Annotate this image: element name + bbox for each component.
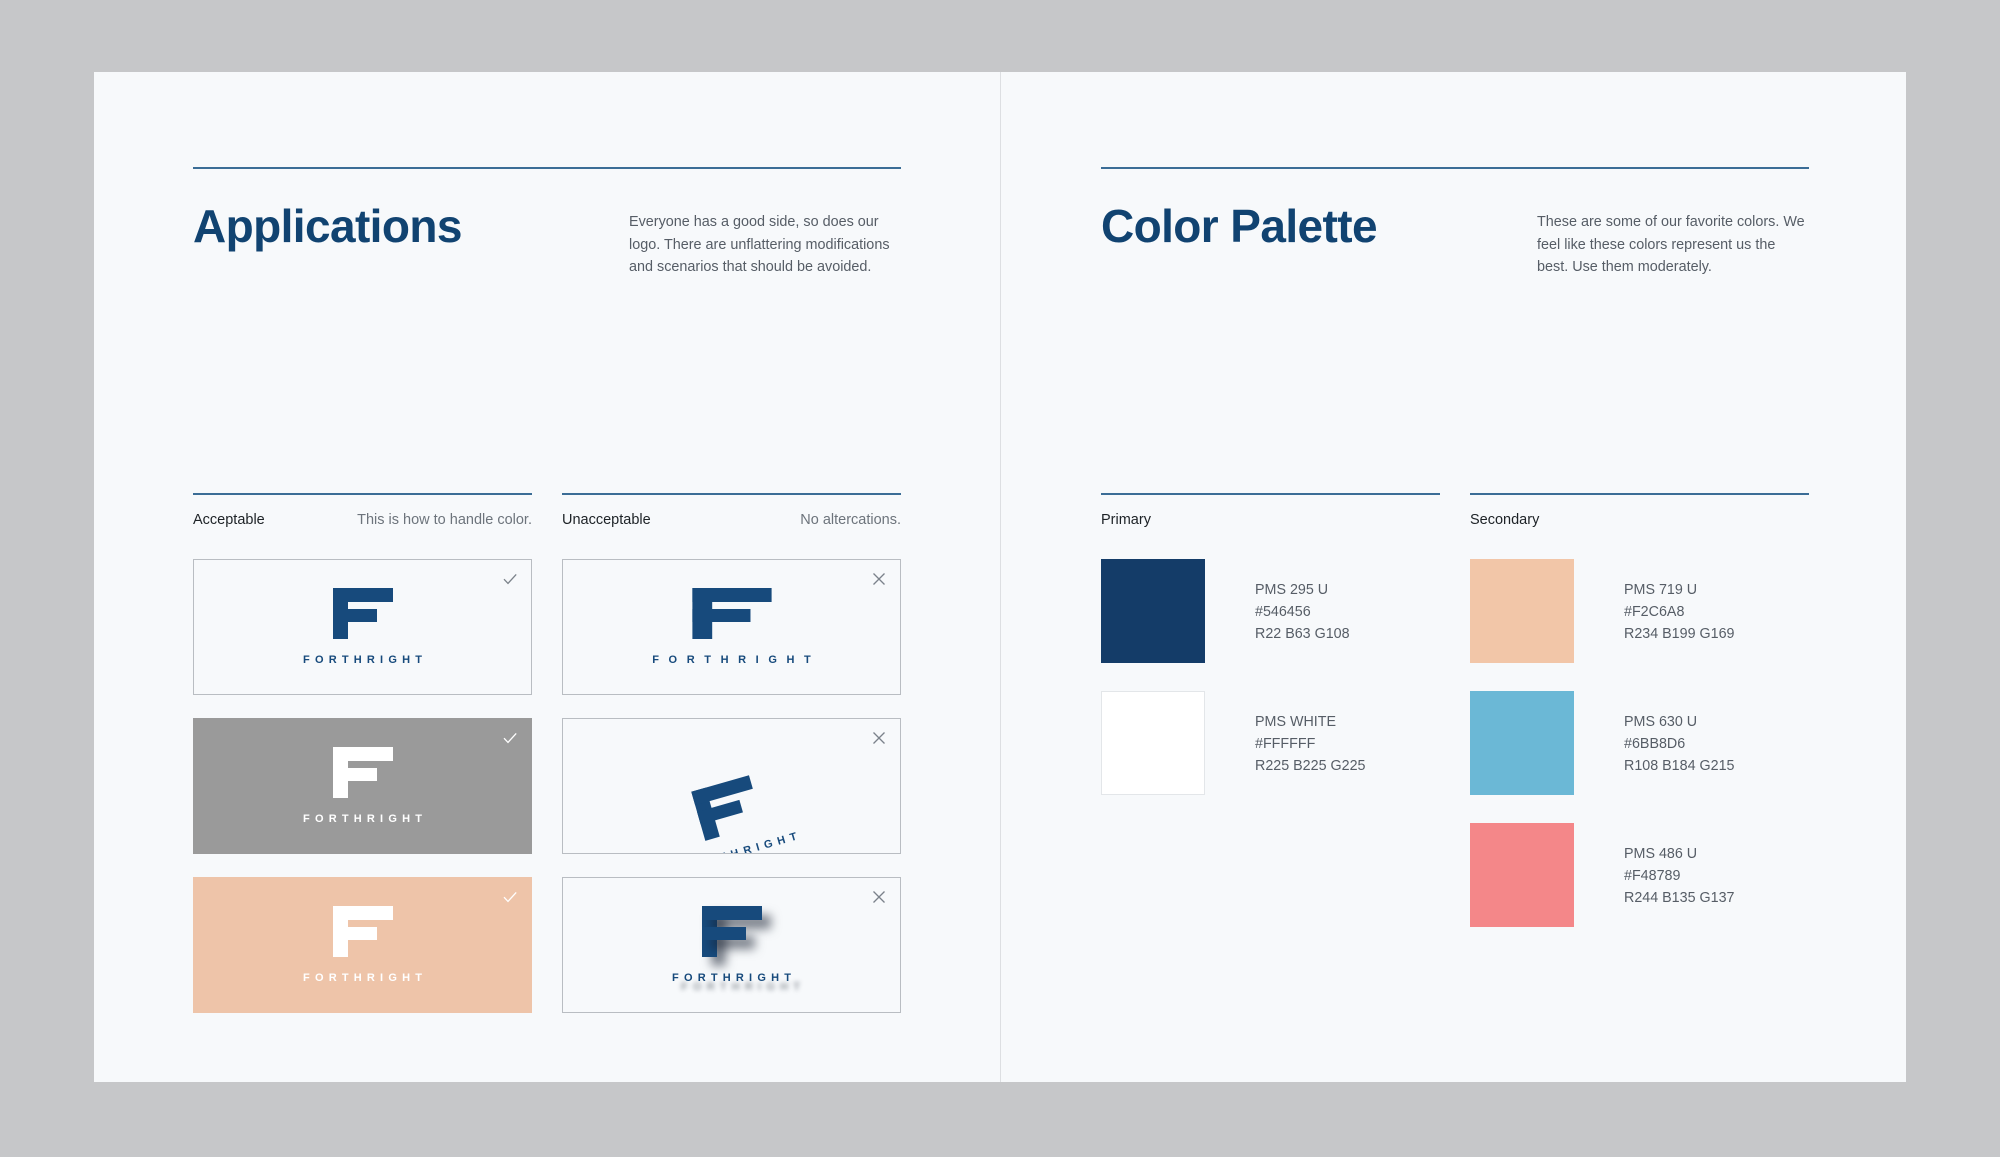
logo-wordmark: FORTHRIGHT (667, 972, 796, 984)
swatch-pms: PMS 295 U (1255, 579, 1350, 601)
swatch-details: PMS WHITE #FFFFFF R225 B225 G225 (1255, 691, 1366, 778)
swatch-row[interactable]: PMS 719 U #F2C6A8 R234 B199 G169 (1470, 559, 1809, 663)
swatch-pms: PMS WHITE (1255, 711, 1366, 733)
logo-lockup: FORTHRIGHT (194, 588, 531, 666)
section-labels: Unacceptable No altercations. (562, 512, 901, 528)
section-primary: Primary PMS 295 U #546456 R22 B63 G108 (1101, 493, 1440, 927)
logo-lockup: FORTHRIGHT (563, 906, 900, 984)
section-unacceptable: Unacceptable No altercations. (562, 493, 901, 1013)
section-labels: Acceptable This is how to handle color. (193, 512, 532, 528)
logo-wordmark: FORTHRIGHT (643, 654, 821, 666)
swatch-rgb: R108 B184 G215 (1624, 755, 1735, 777)
color-swatch (1470, 691, 1574, 795)
swatch-row[interactable]: PMS WHITE #FFFFFF R225 B225 G225 (1101, 691, 1440, 795)
section-title: Secondary (1470, 512, 1539, 528)
swatch-hex: #F2C6A8 (1624, 601, 1735, 623)
logo-f-mark (333, 588, 393, 639)
logo-card[interactable]: FORTHRIGHT (562, 877, 901, 1013)
swatch-pms: PMS 486 U (1624, 843, 1735, 865)
page-header: Applications Everyone has a good side, s… (193, 202, 901, 279)
section-title: Acceptable (193, 512, 265, 528)
logo-card[interactable]: FORTHRIGHT (562, 559, 901, 695)
logo-lockup: FORTHRIGHT (563, 588, 900, 666)
page-title: Applications (193, 202, 462, 250)
header-rule (193, 167, 901, 169)
section-note: No altercations. (800, 512, 901, 528)
color-swatch (1101, 559, 1205, 663)
swatch-row[interactable]: PMS 295 U #546456 R22 B63 G108 (1101, 559, 1440, 663)
swatch-details: PMS 295 U #546456 R22 B63 G108 (1255, 559, 1350, 646)
page-description: Everyone has a good side, so does our lo… (629, 202, 901, 279)
primary-swatch-list: PMS 295 U #546456 R22 B63 G108 PMS WHITE… (1101, 559, 1440, 795)
logo-f-mark (691, 775, 763, 841)
swatch-details: PMS 719 U #F2C6A8 R234 B199 G169 (1624, 559, 1735, 646)
page-description: These are some of our favorite colors. W… (1537, 202, 1809, 279)
logo-wordmark: FORTHRIGHT (298, 654, 427, 666)
page-color-palette: Color Palette These are some of our favo… (1000, 72, 1906, 1082)
swatch-rgb: R234 B199 G169 (1624, 623, 1735, 645)
swatch-hex: #6BB8D6 (1624, 733, 1735, 755)
page-applications: Applications Everyone has a good side, s… (94, 72, 1000, 1082)
logo-lockup: FORTHRIGHT (562, 737, 901, 854)
section-rule (1470, 493, 1809, 495)
check-icon (502, 730, 518, 746)
page-title: Color Palette (1101, 202, 1377, 250)
logo-f-mark (333, 747, 393, 798)
logo-f-mark (702, 906, 762, 957)
logo-f-mark (692, 588, 771, 639)
logo-lockup: FORTHRIGHT (194, 906, 531, 984)
logo-card[interactable]: FORTHRIGHT (562, 718, 901, 854)
section-labels: Secondary (1470, 512, 1809, 528)
swatch-pms: PMS 630 U (1624, 711, 1735, 733)
section-acceptable: Acceptable This is how to handle color. (193, 493, 532, 1013)
logo-card[interactable]: FORTHRIGHT (193, 559, 532, 695)
section-secondary: Secondary PMS 719 U #F2C6A8 R234 B199 G1… (1470, 493, 1809, 927)
section-note: This is how to handle color. (357, 512, 532, 528)
swatch-rgb: R244 B135 G137 (1624, 887, 1735, 909)
section-rule (193, 493, 532, 495)
secondary-swatch-list: PMS 719 U #F2C6A8 R234 B199 G169 PMS 630… (1470, 559, 1809, 927)
color-swatch (1101, 691, 1205, 795)
swatch-details: PMS 630 U #6BB8D6 R108 B184 G215 (1624, 691, 1735, 778)
swatch-details: PMS 486 U #F48789 R244 B135 G137 (1624, 823, 1735, 910)
section-title: Unacceptable (562, 512, 651, 528)
swatch-hex: #FFFFFF (1255, 733, 1366, 755)
logo-card[interactable]: FORTHRIGHT (193, 877, 532, 1013)
swatch-row[interactable]: PMS 630 U #6BB8D6 R108 B184 G215 (1470, 691, 1809, 795)
logo-f-mark (333, 906, 393, 957)
color-swatch (1470, 823, 1574, 927)
swatch-rgb: R22 B63 G108 (1255, 623, 1350, 645)
acceptable-card-list: FORTHRIGHT (193, 559, 532, 1013)
logo-lockup: FORTHRIGHT (194, 747, 531, 825)
swatch-row[interactable]: PMS 486 U #F48789 R244 B135 G137 (1470, 823, 1809, 927)
logo-wordmark: FORTHRIGHT (676, 829, 804, 854)
logo-wordmark: FORTHRIGHT (298, 813, 427, 825)
section-title: Primary (1101, 512, 1151, 528)
palette-sections: Primary PMS 295 U #546456 R22 B63 G108 (1101, 493, 1809, 927)
close-icon (871, 889, 887, 905)
logo-card[interactable]: FORTHRIGHT (193, 718, 532, 854)
swatch-pms: PMS 719 U (1624, 579, 1735, 601)
header-rule (1101, 167, 1809, 169)
swatch-hex: #546456 (1255, 601, 1350, 623)
logo-wordmark: FORTHRIGHT (298, 972, 427, 984)
page-gutter-divider (1000, 72, 1001, 1082)
section-labels: Primary (1101, 512, 1440, 528)
section-rule (1101, 493, 1440, 495)
swatch-rgb: R225 B225 G225 (1255, 755, 1366, 777)
check-icon (502, 571, 518, 587)
brand-guidelines-spread: Applications Everyone has a good side, s… (94, 72, 1906, 1082)
applications-sections: Acceptable This is how to handle color. (193, 493, 901, 1013)
close-icon (871, 571, 887, 587)
check-icon (502, 889, 518, 905)
page-header: Color Palette These are some of our favo… (1101, 202, 1809, 279)
unacceptable-card-list: FORTHRIGHT (562, 559, 901, 1013)
swatch-hex: #F48789 (1624, 865, 1735, 887)
section-rule (562, 493, 901, 495)
color-swatch (1470, 559, 1574, 663)
